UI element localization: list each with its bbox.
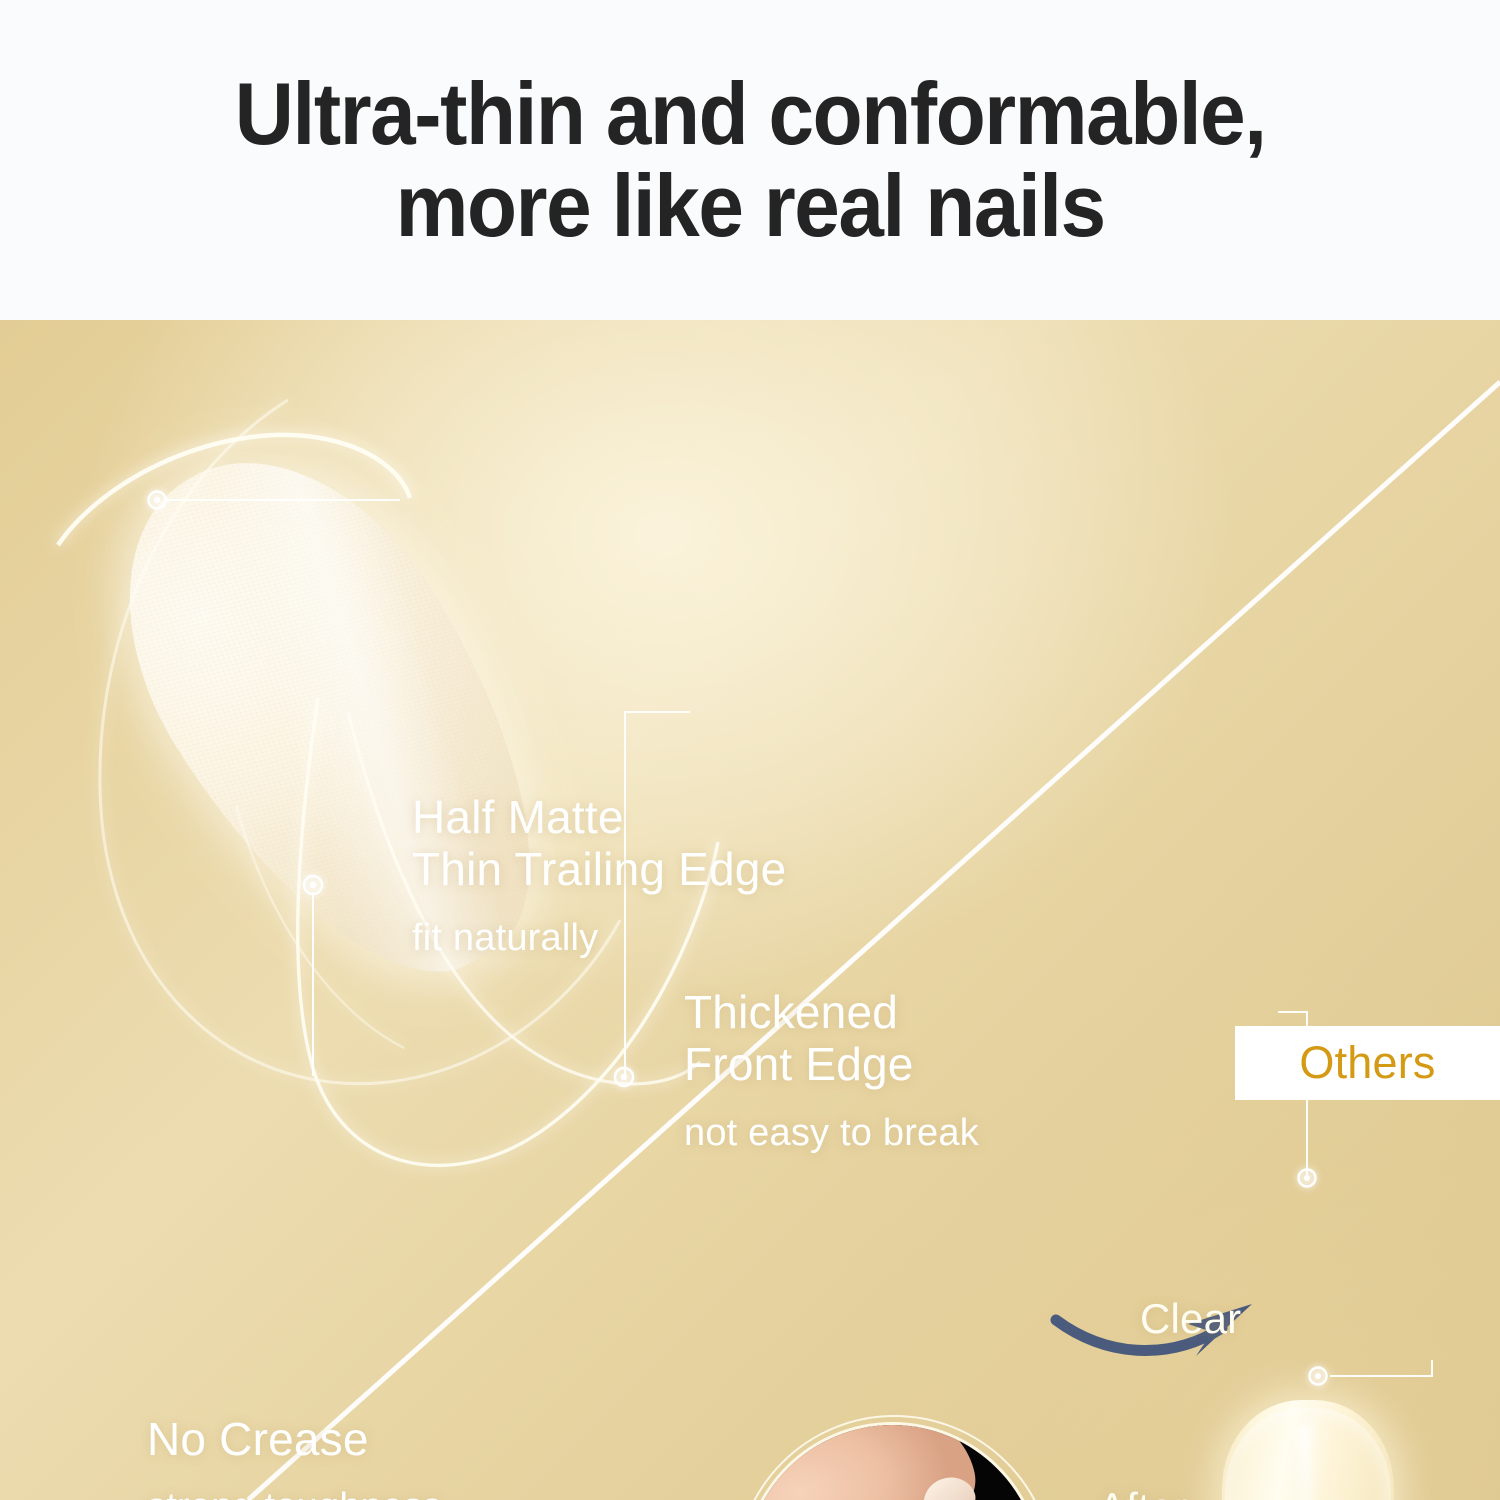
- annotation-thickened-subtitle: not easy to break: [684, 1111, 979, 1157]
- comparison-panel: Half Matte Thin Trailing Edge fit natura…: [0, 320, 1500, 1500]
- abs-nail-illustration: [1222, 1400, 1394, 1500]
- annotation-thickened-title: Thickened Front Edge: [684, 986, 979, 1091]
- annotation-after-bend: After Bend: [1098, 1485, 1197, 1500]
- annotation-half-matte: Half Matte Thin Trailing Edge fit natura…: [412, 791, 786, 961]
- competitor-badge-others: Others: [1235, 1026, 1500, 1100]
- annotation-no-crease-subtitle: strong toughness: [147, 1485, 442, 1500]
- page-title: Ultra-thin and conformable, more like re…: [197, 68, 1302, 253]
- competitor-badge-label: Others: [1299, 1037, 1435, 1089]
- annotation-half-matte-title: Half Matte Thin Trailing Edge: [412, 791, 786, 896]
- annotation-half-matte-subtitle: fit naturally: [412, 916, 786, 962]
- annotation-no-crease-title: No Crease: [147, 1413, 442, 1465]
- annotation-no-crease: No Crease strong toughness: [147, 1413, 442, 1500]
- product-comparison-poster: Ultra-thin and conformable, more like re…: [0, 0, 1500, 1500]
- annotation-thickened-front-edge: Thickened Front Edge not easy to break: [684, 986, 979, 1156]
- annotation-clear-title: Clear: [1140, 1295, 1241, 1343]
- header-band: Ultra-thin and conformable, more like re…: [0, 0, 1500, 320]
- annotation-after-bend-title: After Bend: [1098, 1485, 1197, 1500]
- annotation-clear: Clear: [1140, 1295, 1241, 1343]
